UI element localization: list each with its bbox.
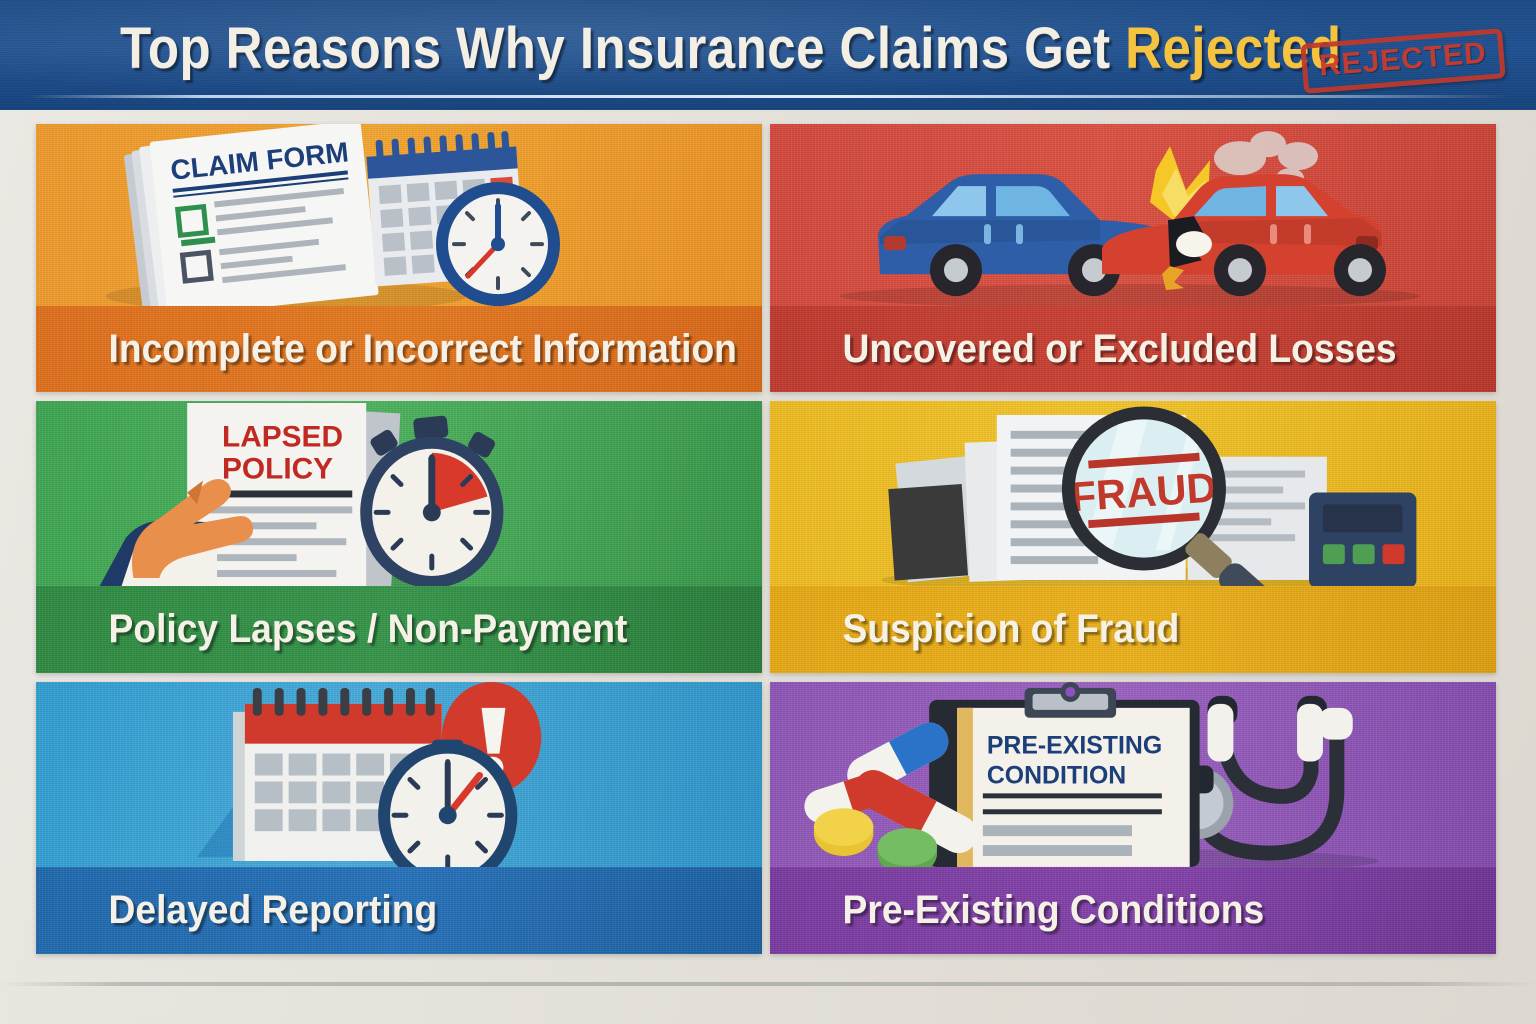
reasons-grid: CLAIM FORM: [36, 124, 1496, 954]
panel-5-scene: [36, 682, 762, 867]
panel-pre-existing-conditions[interactable]: PRE-EXISTING CONDITION: [770, 682, 1496, 954]
panel-3-label-bar: Policy Lapses / Non-Payment: [36, 586, 762, 673]
panel-1-scene: CLAIM FORM: [36, 124, 762, 306]
lapsed-policy-artwork: LAPSED POLICY: [36, 401, 762, 586]
panel-4-scene: FRAUD: [770, 401, 1496, 586]
fraud-artwork: FRAUD: [770, 401, 1496, 586]
clipboard-heading-line2: CONDITION: [987, 762, 1126, 789]
claim-form-artwork: CLAIM FORM: [36, 124, 762, 306]
lapsed-heading-line1: LAPSED: [222, 421, 343, 454]
panel-3-label: Policy Lapses / Non-Payment: [36, 608, 627, 650]
panel-policy-lapses[interactable]: LAPSED POLICY: [36, 401, 762, 673]
panel-4-label: Suspicion of Fraud: [770, 608, 1179, 650]
pre-existing-condition-artwork: PRE-EXISTING CONDITION: [770, 682, 1496, 867]
panel-incomplete-information[interactable]: CLAIM FORM: [36, 124, 762, 392]
panel-uncovered-losses[interactable]: Uncovered or Excluded Losses: [770, 124, 1496, 392]
panel-2-label-bar: Uncovered or Excluded Losses: [770, 306, 1496, 392]
clock-icon: [436, 182, 560, 306]
panel-1-label: Incomplete or Incorrect Information: [36, 328, 737, 370]
panel-6-scene: PRE-EXISTING CONDITION: [770, 682, 1496, 867]
header-banner: Top Reasons Why Insurance Claims Get Rej…: [0, 0, 1536, 110]
red-car: [1102, 174, 1386, 296]
panel-3-scene: LAPSED POLICY: [36, 401, 762, 586]
page-title-main: Top Reasons Why Insurance Claims Get: [120, 16, 1125, 81]
car-collision-artwork: [770, 124, 1496, 306]
calculator-icon: [1309, 492, 1416, 585]
panel-1-label-bar: Incomplete or Incorrect Information: [36, 306, 762, 392]
clipboard-heading-line1: PRE-EXISTING: [987, 733, 1162, 760]
panel-5-label: Delayed Reporting: [36, 889, 437, 931]
delayed-reporting-artwork: [36, 682, 762, 867]
panel-6-label: Pre-Existing Conditions: [770, 889, 1264, 931]
page-title: Top Reasons Why Insurance Claims Get Rej…: [120, 12, 1341, 86]
panel-suspicion-of-fraud[interactable]: FRAUD Suspicion of Fraud: [770, 401, 1496, 673]
panel-4-label-bar: Suspicion of Fraud: [770, 586, 1496, 673]
rejected-stamp-label: REJECTED: [1318, 36, 1488, 82]
stopwatch-icon: [360, 415, 503, 586]
claim-form-document: CLAIM FORM: [150, 124, 379, 306]
lapsed-heading-line2: POLICY: [222, 453, 333, 486]
header-divider-rule: [28, 95, 1508, 98]
panel-2-label: Uncovered or Excluded Losses: [770, 328, 1397, 370]
infographic-root: Top Reasons Why Insurance Claims Get Rej…: [0, 0, 1536, 1024]
panel-5-label-bar: Delayed Reporting: [36, 867, 762, 954]
panel-2-scene: [770, 124, 1496, 306]
panel-6-label-bar: Pre-Existing Conditions: [770, 867, 1496, 954]
panel-delayed-reporting[interactable]: Delayed Reporting: [36, 682, 762, 954]
footer-divider-line: [0, 982, 1536, 986]
